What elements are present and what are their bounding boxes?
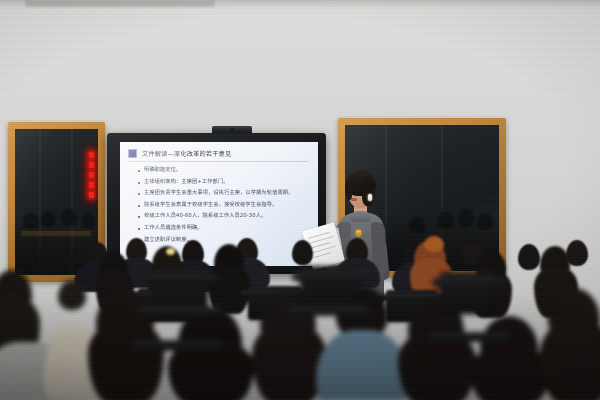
bullet-text: 工作人员遴选条件明确。 (144, 225, 203, 232)
audience-head (58, 280, 86, 310)
bullet-dot-icon (138, 193, 140, 195)
list-item: 主席团负责学生会重大事项，设执行主席，以学期为轮值周期。 (138, 190, 314, 197)
slide-title-underline (128, 161, 308, 162)
speaker-mouth (351, 198, 357, 201)
list-item: 主体组织架构：主席团+工作部门。 (138, 179, 314, 186)
bullet-dot-icon (138, 216, 140, 218)
slide-title-marker-icon (128, 149, 137, 158)
chair-arm (292, 272, 368, 281)
bullet-text: 校级工作人员40-60人，院系级工作人员20-30人。 (144, 213, 266, 220)
audience-head (292, 240, 313, 265)
speaker-hair-side (345, 182, 352, 200)
bullet-text: 明确职能定位。 (144, 167, 181, 174)
list-item: 院系级学生会表属于校级学生会，接受校级学生会指导。 (138, 202, 314, 209)
audience-hair (252, 322, 326, 400)
bullet-dot-icon (138, 205, 140, 207)
chair-arm (432, 278, 506, 287)
bullet-text: 主席团负责学生会重大事项，设执行主席，以学期为轮值周期。 (144, 190, 293, 197)
audience-hair-bun (424, 236, 444, 252)
slide-title: 文件解读—深化改革的若干意见 (142, 149, 231, 158)
chair-arm (134, 340, 222, 351)
camera-lens-icon (230, 128, 235, 131)
list-item: 校级工作人员40-60人，院系级工作人员20-30人。 (138, 213, 314, 220)
slide-title-row: 文件解读—深化改革的若干意见 (128, 149, 231, 158)
bullet-dot-icon (138, 228, 140, 230)
speaker-turtleneck-collar (350, 211, 371, 222)
audience-hair (88, 320, 164, 400)
hair-scrunchie (166, 248, 175, 255)
audience-hair (540, 320, 600, 400)
audience-shoulders (316, 330, 408, 400)
list-item: 工作人员遴选条件明确。 (138, 225, 314, 232)
chair-arm (430, 332, 510, 342)
bullet-text: 主体组织架构：主席团+工作部门。 (144, 179, 229, 186)
list-item: 明确职能定位。 (138, 167, 314, 174)
speaker-earring (368, 194, 372, 201)
bullet-text: 院系级学生会表属于校级学生会，接受校级学生会指导。 (144, 202, 277, 209)
audience (0, 236, 600, 400)
audience-hair (470, 346, 550, 400)
lecture-hall-photo: 文件解读—深化改革的若干意见 明确职能定位。 主体组织架构：主席团+工作部门。 … (0, 0, 600, 400)
audience-head (518, 244, 540, 270)
chair-arm (142, 274, 218, 283)
chair-arm (138, 306, 222, 316)
bullet-dot-icon (138, 170, 140, 172)
ceiling-strip (25, 0, 215, 7)
chair-arm (288, 306, 370, 316)
bullet-dot-icon (138, 182, 140, 184)
